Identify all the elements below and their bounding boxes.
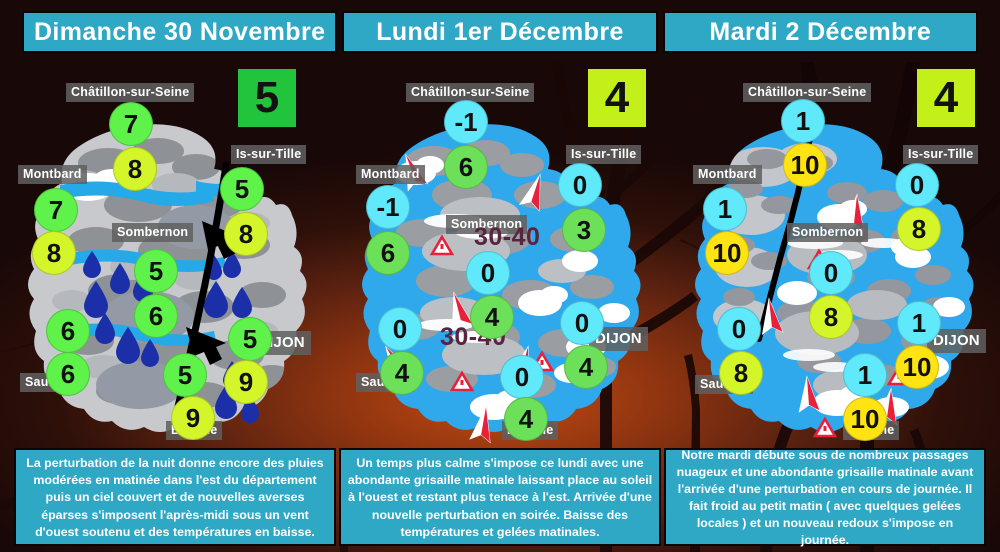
day-header-title: Lundi 1er Décembre (376, 18, 624, 47)
temp-bubble-max: 6 (46, 352, 90, 396)
temp-bubble-cold: 0 (809, 251, 853, 295)
temp-bubble-cold: 1 (781, 99, 825, 143)
temp-bubble-min: 7 (109, 102, 153, 146)
temp-bubble-max: 3 (562, 208, 606, 252)
summary-text-row: La perturbation de la nuit donne encore … (0, 448, 1000, 546)
forecast-panels: 5 Châtillon-sur-Seine Montbard Sombernon… (0, 55, 1000, 445)
temp-bubble-warm: 10 (705, 231, 749, 275)
temp-bubble-max: 8 (809, 295, 853, 339)
day-rating-badge: 4 (917, 69, 975, 127)
temp-bubble-max: 8 (224, 212, 268, 256)
temp-bubble-max: 6 (444, 145, 488, 189)
temp-bubble-max: 9 (224, 360, 268, 404)
day-header-mardi[interactable]: Mardi 2 Décembre (663, 11, 978, 53)
temp-bubble-warm: 10 (783, 143, 827, 187)
forecast-panel-lundi: 4 Châtillon-sur-Seine Montbard Sombernon… (334, 55, 667, 445)
day-header-row: Dimanche 30 Novembre Lundi 1er Décembre … (0, 11, 1000, 53)
temp-bubble-min: 5 (220, 167, 264, 211)
temp-bubble-max: 4 (504, 397, 548, 441)
summary-lundi[interactable]: Un temps plus calme s'impose ce lundi av… (339, 448, 661, 546)
temp-bubble-cold: 0 (558, 163, 602, 207)
temp-bubble-cold: -1 (366, 185, 410, 229)
temp-bubble-cold: 0 (378, 307, 422, 351)
temp-bubble-cold: 1 (703, 187, 747, 231)
city-label-is-sur-tille: Is-sur-Tille (566, 145, 641, 164)
temp-bubble-cold: 0 (717, 307, 761, 351)
temp-bubble-max: 8 (32, 231, 76, 275)
temp-bubble-cold: 0 (560, 301, 604, 345)
summary-text: La perturbation de la nuit donne encore … (22, 455, 328, 541)
temp-bubble-min: 5 (163, 353, 207, 397)
city-label-sombernon: Sombernon (787, 223, 868, 242)
city-label-chatillon-sur-seine: Châtillon-sur-Seine (66, 83, 194, 102)
temp-bubble-min: 5 (228, 317, 272, 361)
summary-text: Un temps plus calme s'impose ce lundi av… (347, 455, 653, 541)
weather-forecast-graphic: Dimanche 30 Novembre Lundi 1er Décembre … (0, 0, 1000, 552)
city-label-montbard: Montbard (693, 165, 762, 184)
forecast-panel-mardi: 4 Châtillon-sur-Seine Montbard Sombernon… (667, 55, 1000, 445)
summary-dimanche[interactable]: La perturbation de la nuit donne encore … (14, 448, 336, 546)
day-header-lundi[interactable]: Lundi 1er Décembre (342, 11, 657, 53)
temp-bubble-min: 7 (34, 188, 78, 232)
summary-mardi[interactable]: Notre mardi débute sous de nombreux pass… (664, 448, 986, 546)
summary-text: Notre mardi débute sous de nombreux pass… (672, 447, 978, 550)
city-label-is-sur-tille: Is-sur-Tille (231, 145, 306, 164)
wind-speed-label-north: 30-40 (474, 223, 540, 252)
day-header-title: Mardi 2 Décembre (709, 18, 931, 47)
temp-bubble-warm: 10 (843, 397, 887, 441)
city-label-montbard: Montbard (18, 165, 87, 184)
temp-bubble-cold: 1 (897, 301, 941, 345)
temp-bubble-cold: 0 (895, 163, 939, 207)
temp-bubble-cold: 0 (500, 355, 544, 399)
city-label-is-sur-tille: Is-sur-Tille (903, 145, 978, 164)
city-label-chatillon-sur-seine: Châtillon-sur-Seine (406, 83, 534, 102)
forecast-panel-dimanche: 5 Châtillon-sur-Seine Montbard Sombernon… (0, 55, 333, 445)
temp-bubble-min: 5 (134, 249, 178, 293)
temp-bubble-max: 4 (564, 345, 608, 389)
temp-bubble-cold: 0 (466, 251, 510, 295)
temp-bubble-max: 4 (380, 351, 424, 395)
temp-bubble-cold: 1 (843, 353, 887, 397)
city-label-montbard: Montbard (356, 165, 425, 184)
temp-bubble-max: 8 (113, 147, 157, 191)
temp-bubble-max: 4 (470, 295, 514, 339)
temp-bubble-max: 8 (719, 351, 763, 395)
temp-bubble-min: 6 (46, 309, 90, 353)
day-header-dimanche[interactable]: Dimanche 30 Novembre (22, 11, 337, 53)
temp-bubble-max: 9 (171, 396, 215, 440)
city-label-sombernon: Sombernon (112, 223, 193, 242)
temp-bubble-max: 8 (897, 207, 941, 251)
day-rating-badge: 5 (238, 69, 296, 127)
temp-bubble-max: 6 (134, 294, 178, 338)
day-rating-badge: 4 (588, 69, 646, 127)
temp-bubble-max: 6 (366, 231, 410, 275)
temp-bubble-cold: -1 (444, 100, 488, 144)
day-header-title: Dimanche 30 Novembre (34, 18, 325, 47)
temp-bubble-warm: 10 (895, 345, 939, 389)
